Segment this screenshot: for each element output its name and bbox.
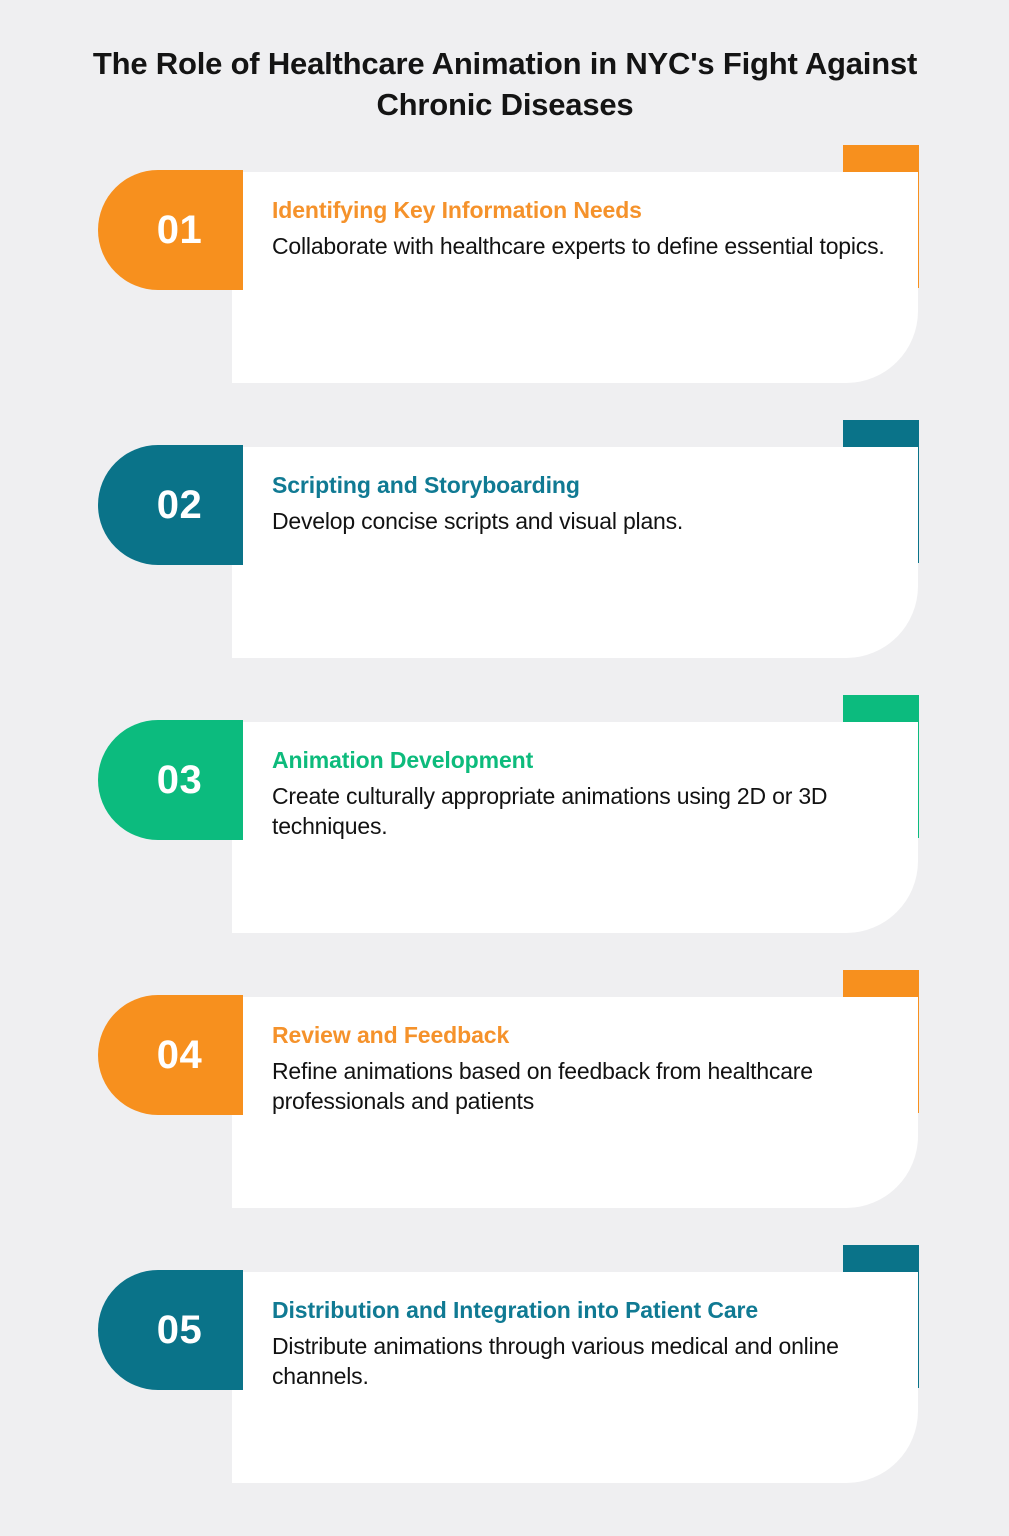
step-description: Refine animations based on feedback from… <box>272 1056 902 1117</box>
step-heading: Animation Development <box>272 746 902 775</box>
step-heading: Distribution and Integration into Patien… <box>272 1296 902 1325</box>
step-card-03[interactable]: 03 Animation Development Create cultural… <box>0 690 1009 965</box>
step-number-label: 04 <box>139 1035 203 1075</box>
step-card-02[interactable]: 02 Scripting and Storyboarding Develop c… <box>0 415 1009 690</box>
step-description: Distribute animations through various me… <box>272 1331 902 1392</box>
step-card-04[interactable]: 04 Review and Feedback Refine animations… <box>0 965 1009 1240</box>
step-number-label: 03 <box>139 760 203 800</box>
step-card-body: Identifying Key Information Needs Collab… <box>272 196 902 261</box>
step-number-badge: 02 <box>98 445 243 565</box>
step-card-01[interactable]: 01 Identifying Key Information Needs Col… <box>0 140 1009 415</box>
step-number-badge: 03 <box>98 720 243 840</box>
step-number-label: 01 <box>139 210 203 250</box>
step-number-badge: 04 <box>98 995 243 1115</box>
step-card-05[interactable]: 05 Distribution and Integration into Pat… <box>0 1240 1009 1515</box>
step-heading: Identifying Key Information Needs <box>272 196 902 225</box>
page-title: The Role of Healthcare Animation in NYC'… <box>72 44 938 126</box>
step-heading: Scripting and Storyboarding <box>272 471 902 500</box>
infographic-root: The Role of Healthcare Animation in NYC'… <box>0 0 1009 1536</box>
step-card-body: Animation Development Create culturally … <box>272 746 902 842</box>
step-number-badge: 05 <box>98 1270 243 1390</box>
step-description: Develop concise scripts and visual plans… <box>272 506 902 537</box>
step-number-label: 05 <box>139 1310 203 1350</box>
step-card-body: Distribution and Integration into Patien… <box>272 1296 902 1392</box>
step-card-body: Scripting and Storyboarding Develop conc… <box>272 471 902 536</box>
step-description: Collaborate with healthcare experts to d… <box>272 231 902 262</box>
step-description: Create culturally appropriate animations… <box>272 781 902 842</box>
step-heading: Review and Feedback <box>272 1021 902 1050</box>
step-number-label: 02 <box>139 485 203 525</box>
step-number-badge: 01 <box>98 170 243 290</box>
step-card-body: Review and Feedback Refine animations ba… <box>272 1021 902 1117</box>
